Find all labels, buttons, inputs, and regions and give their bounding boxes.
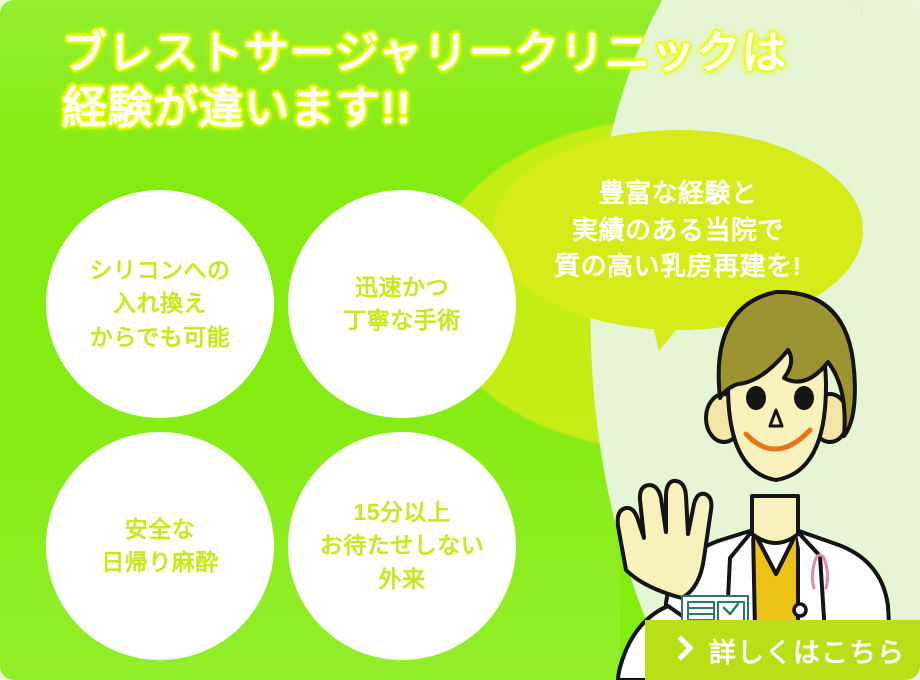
feature-1-line-1: シリコンへの (90, 254, 231, 287)
feature-circle-surgery: 迅速かつ 丁寧な手術 (288, 190, 516, 418)
feature-circle-label: シリコンへの 入れ換え からでも可能 (90, 254, 231, 354)
waving-hand (618, 481, 712, 598)
feature-circle-silicone: シリコンへの 入れ換え からでも可能 (46, 190, 274, 418)
feature-circle-label: 15分以上 お待たせしない 外来 (320, 496, 485, 596)
feature-4-line-1: 15分以上 (320, 496, 485, 529)
bubble-line-1: 豊富な経験と (554, 175, 802, 212)
details-cta-button[interactable]: 詳しくはこちら (645, 620, 920, 680)
headline-line-2: 経験が違います!! (62, 81, 862, 136)
headline-line-1: ブレストサージャリークリニックは (62, 27, 787, 78)
feature-circle-waiting-time: 15分以上 お待たせしない 外来 (288, 432, 516, 660)
doctor-illustration (548, 258, 920, 680)
eye-right (794, 386, 814, 410)
feature-4-line-3: 外来 (320, 563, 485, 596)
feature-3-line-1: 安全な (101, 513, 219, 546)
clinic-promo-banner: ブレストサージャリークリニックは 経験が違います!! 豊富な経験と 実績のある当… (0, 0, 920, 680)
coat-button (794, 604, 806, 616)
feature-4-line-2: お待たせしない (320, 529, 485, 562)
feature-1-line-2: 入れ換え (90, 287, 231, 320)
feature-circle-label: 安全な 日帰り麻酔 (101, 513, 219, 580)
feature-circle-anesthesia: 安全な 日帰り麻酔 (46, 432, 274, 660)
bubble-line-3: 質の高い乳房再建を! (554, 248, 802, 285)
neck (752, 496, 798, 543)
cta-label: 詳しくはこちら (709, 631, 905, 670)
page-title: ブレストサージャリークリニックは 経験が違います!! (62, 26, 862, 136)
feature-1-line-3: からでも可能 (90, 321, 231, 354)
bubble-line-2: 実績のある当院で (554, 212, 802, 249)
feature-2-line-2: 丁寧な手術 (343, 304, 461, 337)
chevron-right-icon (671, 636, 687, 664)
speech-bubble-text: 豊富な経験と 実績のある当院で 質の高い乳房再建を! (554, 175, 802, 286)
feature-3-line-2: 日帰り麻酔 (101, 546, 219, 579)
feature-2-line-1: 迅速かつ (343, 271, 461, 304)
eye-left (746, 386, 766, 410)
feature-circle-label: 迅速かつ 丁寧な手術 (343, 271, 461, 338)
